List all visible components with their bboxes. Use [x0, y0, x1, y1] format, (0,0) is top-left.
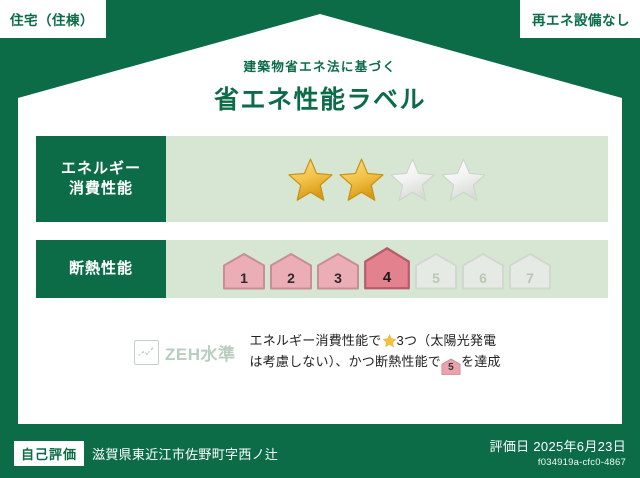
star-icon-empty: [440, 156, 487, 203]
energy-performance-row: エネルギー 消費性能: [36, 136, 608, 222]
inline-grade-badge: 5: [441, 358, 461, 375]
insulation-grade-value: 7: [526, 270, 534, 286]
energy-performance-label-box: エネルギー 消費性能: [36, 136, 166, 222]
building-type-tab: 住宅（住棟）: [0, 0, 106, 38]
insulation-grade-7: 7: [508, 252, 552, 290]
zeh-desc-line2-prefix: は考慮しない）、かつ断熱性能で: [250, 354, 442, 369]
insulation-grade-value: 4: [383, 269, 391, 286]
insulation-grade-value: 3: [334, 270, 342, 286]
zeh-row: ZEH水準 エネルギー消費性能で3つ（太陽光発電 は考慮しない）、かつ断熱性能で…: [36, 330, 608, 375]
building-type-label: 住宅（住棟）: [10, 9, 94, 29]
insulation-label: 断熱性能: [69, 259, 133, 279]
zeh-description-line2: は考慮しない）、かつ断熱性能で5を達成: [250, 351, 501, 375]
star-icon-filled: [287, 156, 334, 203]
energy-performance-value-panel: [166, 136, 608, 222]
star-icon-filled: [338, 156, 385, 203]
insulation-grade-value: 1: [240, 270, 248, 286]
insulation-grade-value: 6: [479, 270, 487, 286]
zeh-label: ZEH水準: [165, 340, 236, 365]
footer-right: 評価日 2025年6月23日 f034919a-cfc0-4867: [490, 436, 626, 468]
page-title: 省エネ性能ラベル: [0, 80, 640, 116]
insulation-performance-row: 断熱性能 1234567: [36, 240, 608, 298]
zeh-desc-line1-prefix: エネルギー消費性能で: [250, 333, 382, 348]
footer-left: 自己評価 滋賀県東近江市佐野町字西ノ辻: [14, 441, 278, 466]
energy-label-line2: 消費性能: [69, 179, 133, 199]
star-icon-empty: [389, 156, 436, 203]
zeh-mark-icon: [134, 340, 159, 365]
reference-code: f034919a-cfc0-4867: [490, 457, 626, 468]
star-rating: [287, 156, 487, 203]
zeh-desc-line1-suffix: 3つ（太陽光発電: [397, 333, 497, 348]
evaluation-date: 評価日 2025年6月23日: [490, 436, 626, 455]
title-subtitle: 建築物省エネ法に基づく: [0, 56, 640, 75]
zeh-description-line1: エネルギー消費性能で3つ（太陽光発電: [250, 330, 501, 351]
renewable-equipment-tab: 再エネ設備なし: [520, 0, 640, 38]
insulation-grade-5: 5: [414, 252, 458, 290]
insulation-grade-value: 2: [287, 270, 295, 286]
zeh-desc-line2-suffix: を達成: [461, 354, 501, 369]
zeh-description: エネルギー消費性能で3つ（太陽光発電 は考慮しない）、かつ断熱性能で5を達成: [250, 330, 501, 375]
title-block: 建築物省エネ法に基づく 省エネ性能ラベル: [0, 56, 640, 116]
insulation-grade-2: 2: [269, 252, 313, 290]
renewable-equipment-label: 再エネ設備なし: [532, 9, 630, 29]
energy-performance-label: 住宅（住棟） 再エネ設備なし 建築物省エネ法に基づく 省エネ性能ラベル エネルギ…: [0, 0, 640, 478]
insulation-grade-6: 6: [461, 252, 505, 290]
insulation-grade-1: 1: [222, 252, 266, 290]
inline-grade-value: 5: [448, 362, 454, 373]
insulation-grade-4: 4: [363, 246, 411, 290]
insulation-performance-value-panel: 1234567: [166, 240, 608, 298]
insulation-performance-label-box: 断熱性能: [36, 240, 166, 298]
insulation-grade-value: 5: [432, 270, 440, 286]
energy-label-line1: エネルギー: [61, 159, 141, 179]
zeh-mark: ZEH水準: [134, 340, 236, 365]
property-address: 滋賀県東近江市佐野町字西ノ辻: [92, 444, 278, 463]
insulation-grade-3: 3: [316, 252, 360, 290]
star-icon-inline: [382, 333, 397, 348]
self-evaluation-badge: 自己評価: [14, 441, 84, 466]
insulation-grade-scale: 1234567: [222, 246, 552, 292]
